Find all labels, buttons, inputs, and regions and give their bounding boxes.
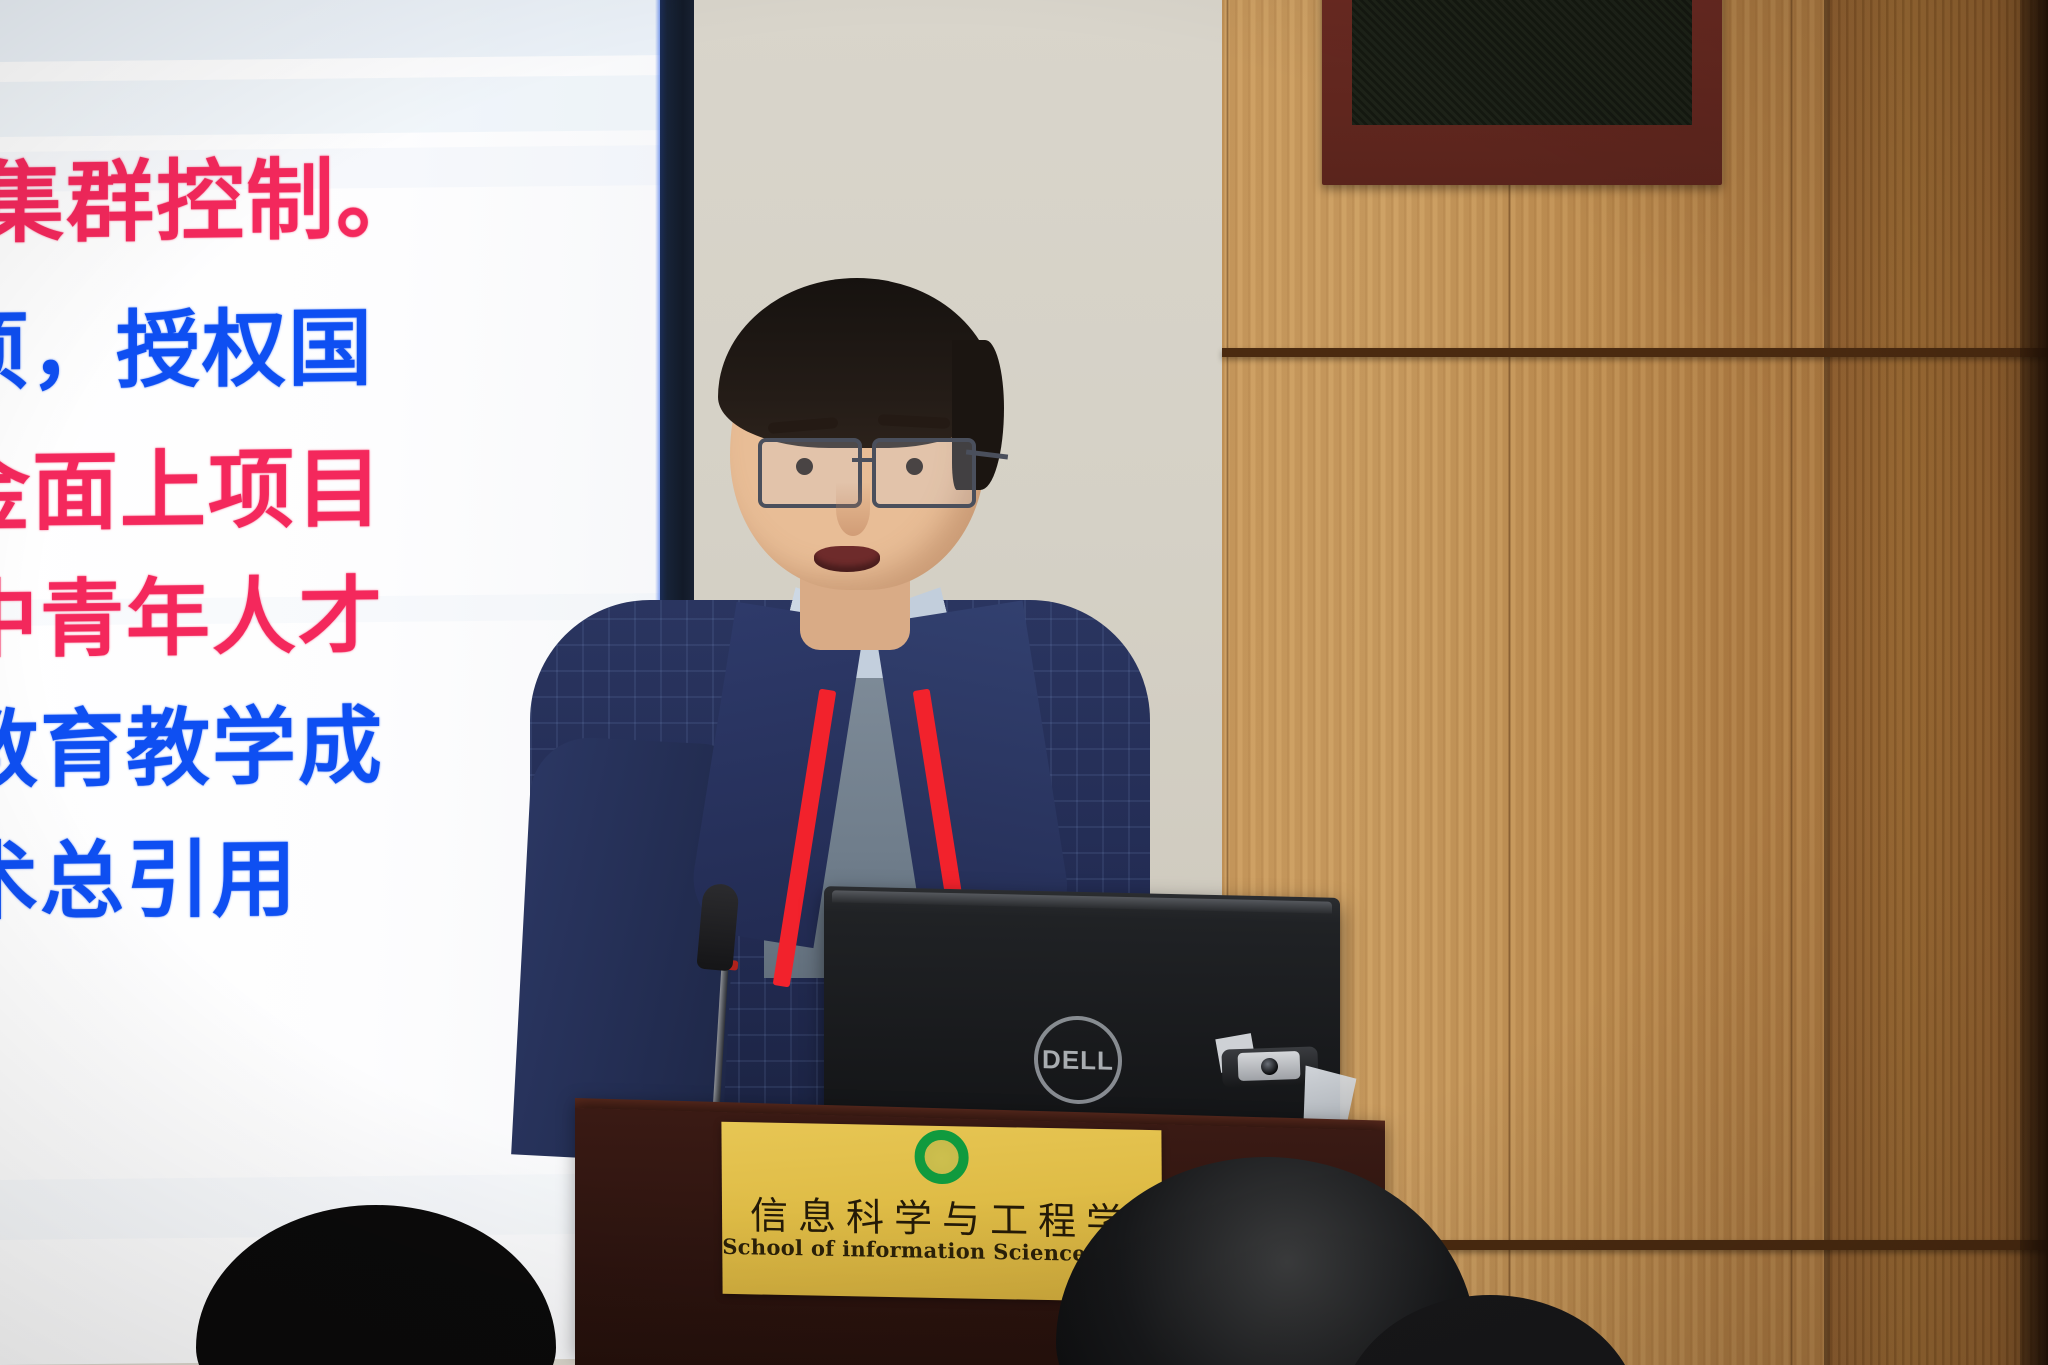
eyeglasses-bridge bbox=[852, 458, 876, 462]
lecture-hall-photo: 集群控制。 项，授权国 金面上项目 中青年人才 教育教学成 术总引用 bbox=[0, 0, 2048, 1365]
slide-line-2: 项，授权国 bbox=[0, 306, 374, 395]
nose bbox=[836, 482, 870, 536]
speaker-grille-panel bbox=[1352, 0, 1692, 125]
wall-shadow bbox=[2020, 0, 2048, 1365]
eyeglasses-lens-right bbox=[872, 438, 976, 508]
slide-line-6: 术总引用 bbox=[0, 837, 298, 925]
slide-line-5: 教育教学成 bbox=[0, 704, 384, 793]
dell-logo: DELL bbox=[1034, 1015, 1122, 1105]
slide-band bbox=[0, 0, 680, 62]
webcam-lens bbox=[1260, 1057, 1278, 1075]
slide-line-1: 集群控制。 bbox=[0, 156, 426, 249]
slide-line-4: 中青年人才 bbox=[0, 574, 384, 663]
webcam-icon bbox=[1238, 1051, 1301, 1081]
panel-seam bbox=[1824, 0, 1830, 1365]
panel-seam bbox=[1508, 0, 1511, 1365]
wood-panel-dark bbox=[1830, 0, 2048, 1365]
microphone-icon bbox=[696, 883, 739, 972]
wall-rail bbox=[1222, 348, 2048, 357]
school-emblem-icon bbox=[914, 1129, 968, 1184]
mouth bbox=[814, 546, 880, 572]
slide-line-3: 金面上项目 bbox=[0, 446, 384, 537]
panel-seam bbox=[1790, 0, 1793, 1365]
slide-band bbox=[0, 74, 680, 137]
